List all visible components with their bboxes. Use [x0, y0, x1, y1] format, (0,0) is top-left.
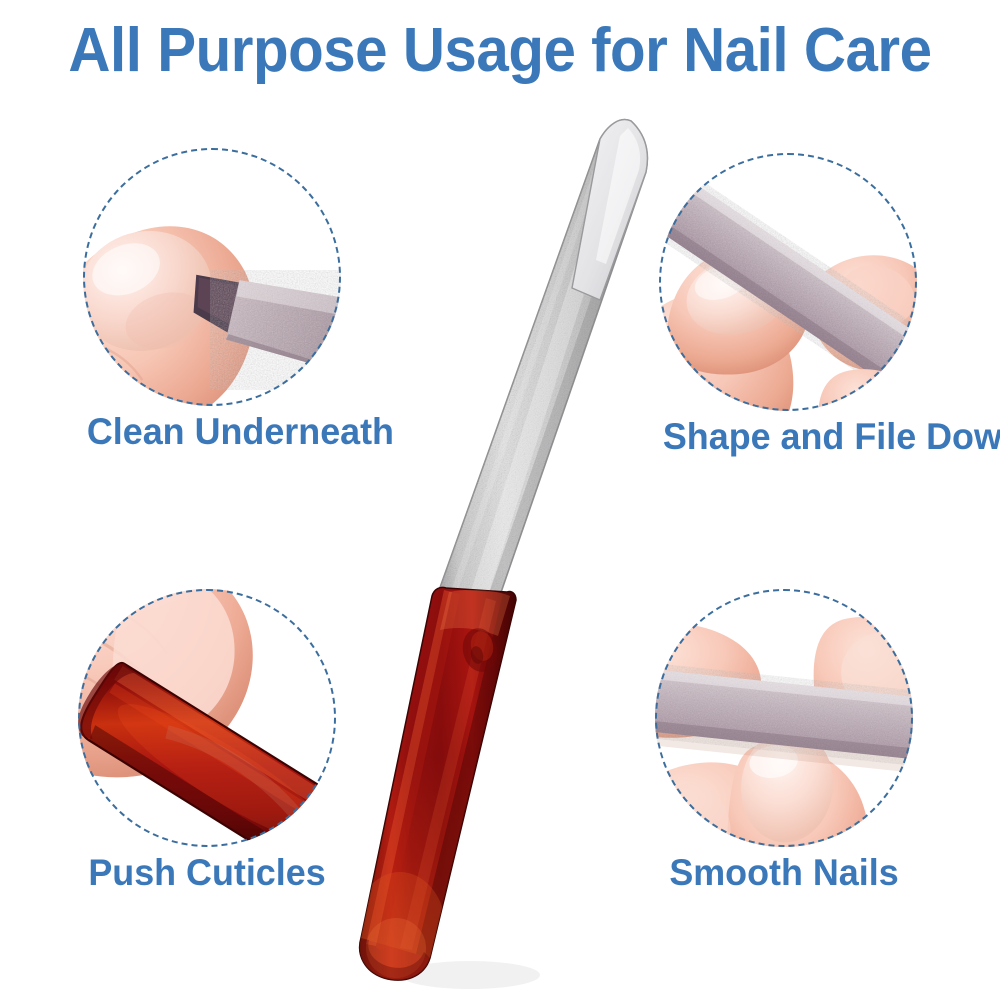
feature-label-shape-and-file-down: Shape and File Down — [663, 415, 913, 459]
feature-label-push-cuticles: Push Cuticles — [82, 851, 332, 895]
dashed-circle-border — [78, 589, 336, 847]
feature-label-smooth-nails: Smooth Nails — [659, 851, 909, 895]
dashed-circle-border — [83, 148, 341, 406]
page-title: All Purpose Usage for Nail Care — [30, 14, 970, 88]
product-shadow — [400, 961, 540, 989]
file-handle — [354, 587, 516, 988]
file-tip — [572, 120, 647, 300]
dashed-circle-border — [655, 589, 913, 847]
infographic-canvas: All Purpose Usage for Nail Care — [0, 0, 1000, 1000]
feature-label-clean-underneath: Clean Underneath — [87, 410, 337, 454]
blade-grit-texture — [420, 110, 660, 620]
dashed-circle-border — [659, 153, 917, 411]
file-blade — [420, 110, 660, 620]
